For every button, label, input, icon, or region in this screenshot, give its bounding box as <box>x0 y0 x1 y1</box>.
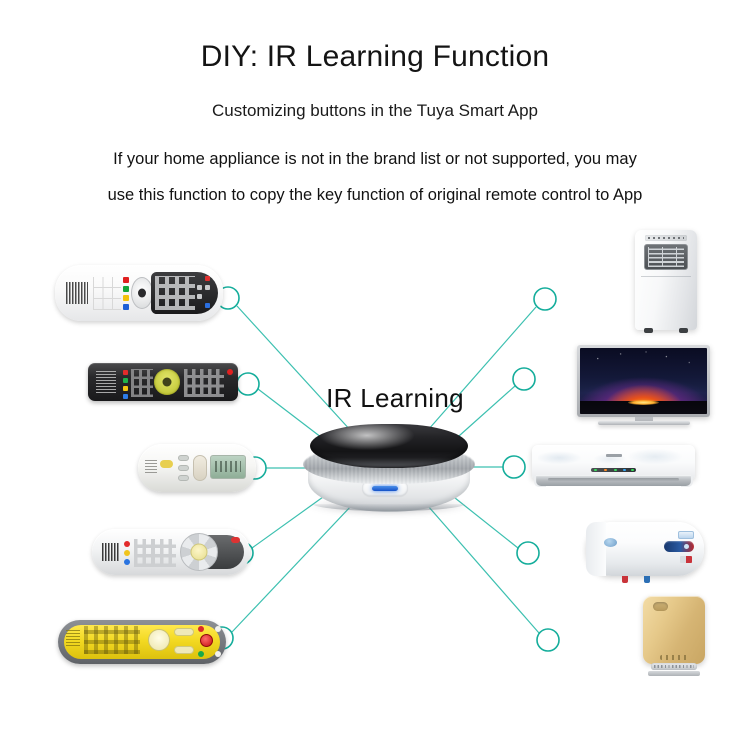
remote-blue-key <box>123 394 128 399</box>
remote-air-conditioner <box>138 444 256 492</box>
remote-number-keys <box>134 539 176 567</box>
remote-label-text <box>66 629 80 646</box>
connector-node-appliance-4 <box>517 542 539 564</box>
purifier-control-panel <box>660 655 688 660</box>
tv-screen-glow <box>628 400 658 405</box>
remote-dpad <box>131 277 153 309</box>
remote-dpad <box>154 369 180 395</box>
remote-power-key <box>231 537 240 543</box>
ir-hub-device <box>300 424 478 514</box>
appliance-portable-ac <box>635 230 697 330</box>
remote-yellow-key <box>123 386 128 391</box>
remote-label-text <box>96 371 116 393</box>
hub-dome-top <box>310 424 468 468</box>
split-ac-led-green-2 <box>614 469 617 471</box>
remote-green-key <box>198 651 204 657</box>
remote-blue-key <box>123 304 129 310</box>
remote-keypad <box>93 277 121 310</box>
remote-pill-key-bottom <box>174 646 194 654</box>
connector-node-appliance-5 <box>537 629 559 651</box>
remote-power-key <box>227 369 233 375</box>
remote-power-key <box>205 276 210 281</box>
connector-line-appliance-5 <box>428 506 539 633</box>
remote-key-1 <box>178 455 189 461</box>
split-ac-decor-pattern <box>538 449 688 465</box>
remote-green-key <box>123 286 129 292</box>
ir-learning-poster: DIY: IR Learning Function Customizing bu… <box>0 0 750 750</box>
ac-vent-grille <box>644 244 688 270</box>
remote-number-keys <box>155 276 195 310</box>
remote-black <box>88 363 238 401</box>
remote-green-key <box>123 378 128 383</box>
remote-pill-key-top <box>174 628 194 636</box>
tv-stand-base <box>598 421 690 425</box>
remote-key-2 <box>178 465 189 471</box>
purifier-handle <box>653 602 668 611</box>
remote-red-key <box>123 277 129 283</box>
remote-yellow-key <box>124 550 130 556</box>
appliance-split-ac <box>532 445 695 491</box>
connector-line-remote-5 <box>232 505 352 632</box>
heater-cold-water-pipe <box>644 576 650 583</box>
remote-white-key-a <box>215 626 221 632</box>
remote-yellow-key <box>123 295 129 301</box>
split-ac-louver <box>536 475 691 486</box>
ac-seam-line <box>641 276 691 277</box>
connector-node-remote-2 <box>237 373 259 395</box>
appliance-television <box>577 345 710 427</box>
remote-key-3 <box>178 475 189 481</box>
remote-gray-key-a <box>197 285 202 290</box>
remote-white-key-b <box>215 651 221 657</box>
remote-number-keys <box>84 626 140 654</box>
remote-mode-key <box>160 460 173 468</box>
hub-label: IR Learning <box>300 383 490 414</box>
remote-blue-mini-key <box>205 303 210 308</box>
ac-control-panel <box>645 235 687 241</box>
heater-indicator <box>680 556 692 563</box>
purifier-base <box>648 671 700 676</box>
connector-node-appliance-3 <box>503 456 525 478</box>
purifier-air-outlet <box>651 663 697 670</box>
remote-red-key <box>123 370 128 375</box>
heater-label <box>678 531 694 539</box>
remote-lcd-display <box>210 455 246 479</box>
split-ac-logo <box>606 454 622 457</box>
remote-silver-wheel <box>92 529 250 575</box>
remote-keypad-right <box>184 369 224 397</box>
remote-gray-key-c <box>197 294 202 299</box>
remote-label-text <box>145 459 157 473</box>
remote-speaker-grille <box>102 543 120 561</box>
heater-control-panel <box>664 541 694 552</box>
remote-yellow <box>58 620 226 664</box>
connector-node-appliance-2 <box>513 368 535 390</box>
remote-red-key <box>124 541 130 547</box>
appliance-water-heater <box>586 518 704 584</box>
remote-keypad-left <box>131 369 153 397</box>
ac-caster-left <box>644 328 653 333</box>
remote-gray-key-b <box>205 285 210 290</box>
heater-brand-badge <box>604 538 617 547</box>
remote-dpad <box>148 629 170 651</box>
ac-caster-right <box>679 328 688 333</box>
heater-hot-water-pipe <box>622 576 628 583</box>
connector-node-appliance-1 <box>534 288 556 310</box>
remote-oval-key <box>193 455 207 481</box>
heater-end-cap <box>586 522 606 576</box>
split-ac-led-green-1 <box>594 469 597 471</box>
remote-speaker-grille <box>66 282 88 304</box>
tv-screen <box>580 348 707 414</box>
remote-power-key <box>200 634 213 647</box>
remote-red-key <box>198 626 204 632</box>
split-ac-led-orange <box>604 469 607 471</box>
remote-blue-key <box>124 559 130 565</box>
remote-tv-white <box>55 265 223 321</box>
remote-scroll-wheel <box>180 533 218 571</box>
appliance-air-purifier <box>643 596 705 672</box>
